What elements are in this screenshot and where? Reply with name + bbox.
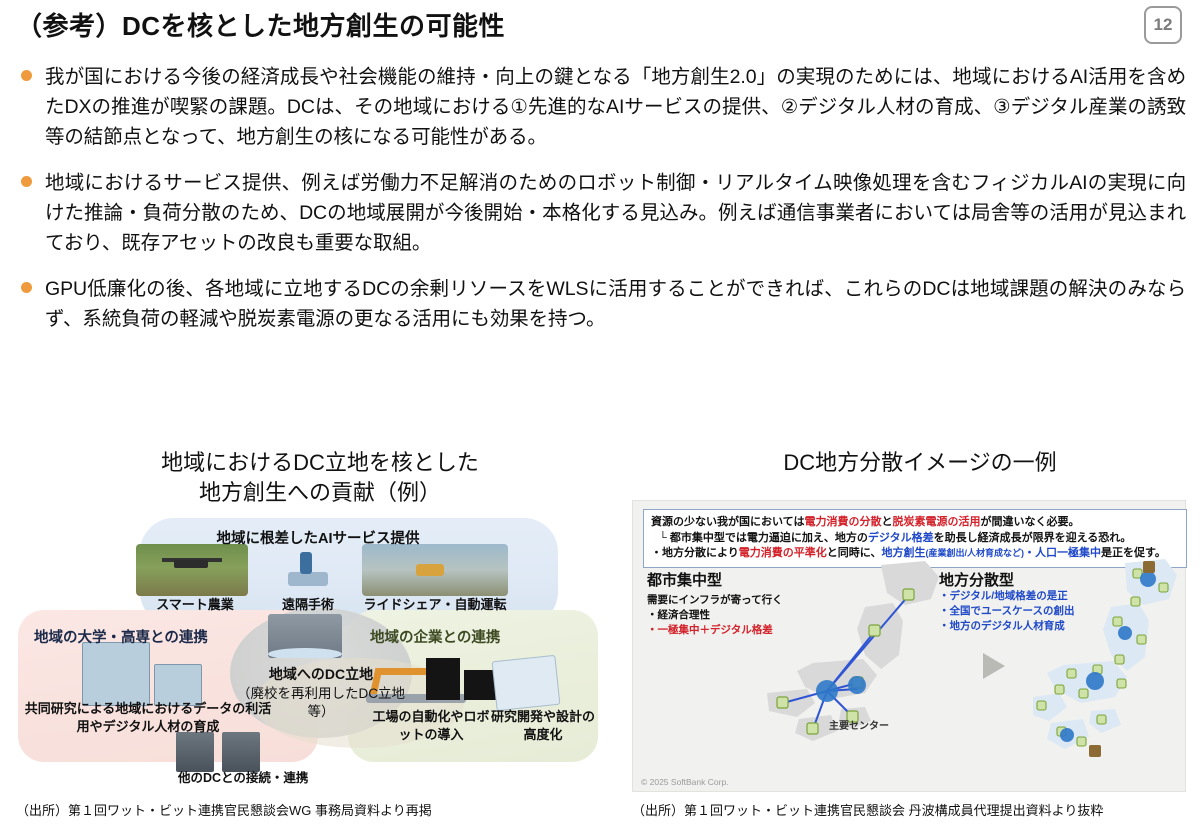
note-highlight-red: 電力消費の平準化 [739,547,827,559]
left-figure-source: （出所）第１回ワット・ビット連携官民懇談会WG 事務局資料より再掲 [16,800,432,819]
blueprint-icon [492,655,561,711]
center-dc-label: 地域へのDC立地 [230,666,412,683]
zone-university-label: 地域の大学・高専との連携 [34,626,264,647]
server-rack-icon [222,732,260,772]
list-item: 地域におけるサービス提供、例えば労働力不足解消のためのロボット制御・リアルタイム… [14,168,1186,258]
caption-smart-agriculture: スマート農業 [140,596,250,613]
bullet-dot-icon [21,176,32,187]
bullet-list: 我が国における今後の経済成長や社会機能の維持・向上の鍵となる「地方創生2.0」の… [14,62,1186,350]
note-highlight-blue: ・人口一極集中 [1024,547,1101,559]
server-rack-icon [176,732,214,772]
note-text: 是正を促す。 [1101,547,1166,559]
page-number-badge: 12 [1144,6,1182,44]
bullet-text: 地域におけるサービス提供、例えば労働力不足解消のためのロボット制御・リアルタイム… [45,168,1186,258]
left-figure-heading-line2: 地方創生への貢献（例） [90,478,550,508]
bullet-text: GPU低廉化の後、各地域に立地するDCの余剰リソースをWLSに活用することができ… [45,274,1186,334]
university-building-icon [82,642,150,706]
caption-rideshare: ライドシェア・自動運転 [350,596,520,613]
list-item: 我が国における今後の経済成長や社会機能の維持・向上の鍵となる「地方創生2.0」の… [14,62,1186,152]
caption-remote-surgery: 遠隔手術 [263,596,353,613]
page-title: （参考）DCを核とした地方創生の可能性 [16,6,505,43]
caption-rd: 研究開発や設計の高度化 [490,708,596,744]
datacenter-server-icon [268,614,342,658]
bullet-dot-icon [21,282,32,293]
note-text: └ 都市集中型では電力逼迫に加え、地方の [659,532,868,544]
caption-factory-automation: 工場の自動化やロボットの導入 [370,708,492,744]
note-text: が間違いなく必要。 [980,516,1079,528]
note-line-2: └ 都市集中型では電力逼迫に加え、地方のデジタル格差を助長し経済成長が限界を迎え… [651,531,1179,547]
arrow-right-icon [983,653,1005,679]
note-text: ・地方分散により [651,547,739,559]
caption-other-dc-connection: 他のDCとの接続・連携 [178,770,428,787]
list-item: GPU低廉化の後、各地域に立地するDCの余剰リソースをWLSに活用することができ… [14,274,1186,334]
note-highlight-blue-small: (産業創出/人材育成など) [925,548,1024,558]
smart-agriculture-photo [136,544,248,596]
left-figure-heading: 地域におけるDC立地を核とした 地方創生への貢献（例） [90,448,550,508]
rideshare-photo [362,544,508,596]
note-text: を助長し経済成長が限界を迎える恐れ。 [934,532,1132,544]
note-line-1: 資源の少ない我が国においては電力消費の分散と脱炭素電源の活用が間違いなく必要。 [651,515,1179,531]
right-figure-source: （出所）第１回ワット・ビット連携官民懇談会 丹波構成員代理提出資料より抜粋 [632,800,1103,819]
japan-map-concentrated [753,559,953,769]
center-marker-label: 主要センター [829,717,889,732]
left-figure: 地域に根差したAIサービス提供 地域の大学・高専との連携 地域の企業との連携 ス… [18,518,598,790]
note-highlight-red: 電力消費の分散 [804,516,881,528]
bullet-dot-icon [21,70,32,81]
zone-ai-label: 地域に根差したAIサービス提供 [178,527,458,548]
map-credit: © 2025 SoftBank Corp. [641,777,729,787]
left-panel-title: 都市集中型 [647,569,722,590]
zone-corporate-label: 地域の企業との連携 [370,626,570,647]
note-text: と [881,516,892,528]
note-highlight-blue: デジタル格差 [868,532,934,544]
note-text: と同時に、 [827,547,882,559]
left-figure-heading-line1: 地域におけるDC立地を核とした [90,448,550,478]
slide-root: （参考）DCを核とした地方創生の可能性 12 我が国における今後の経済成長や社会… [0,0,1200,830]
remote-surgery-icon [276,546,336,594]
right-figure-heading: DC地方分散イメージの一例 [700,448,1140,478]
bullet-text: 我が国における今後の経済成長や社会機能の維持・向上の鍵となる「地方創生2.0」の… [45,62,1186,152]
japan-map-distributed [1033,559,1183,774]
note-text: 資源の少ない我が国においては [651,516,804,528]
note-highlight-blue: 地方創生 [881,547,925,559]
note-highlight-red: 脱炭素電源の活用 [892,516,980,528]
right-figure: 資源の少ない我が国においては電力消費の分散と脱炭素電源の活用が間違いなく必要。 … [632,500,1186,792]
